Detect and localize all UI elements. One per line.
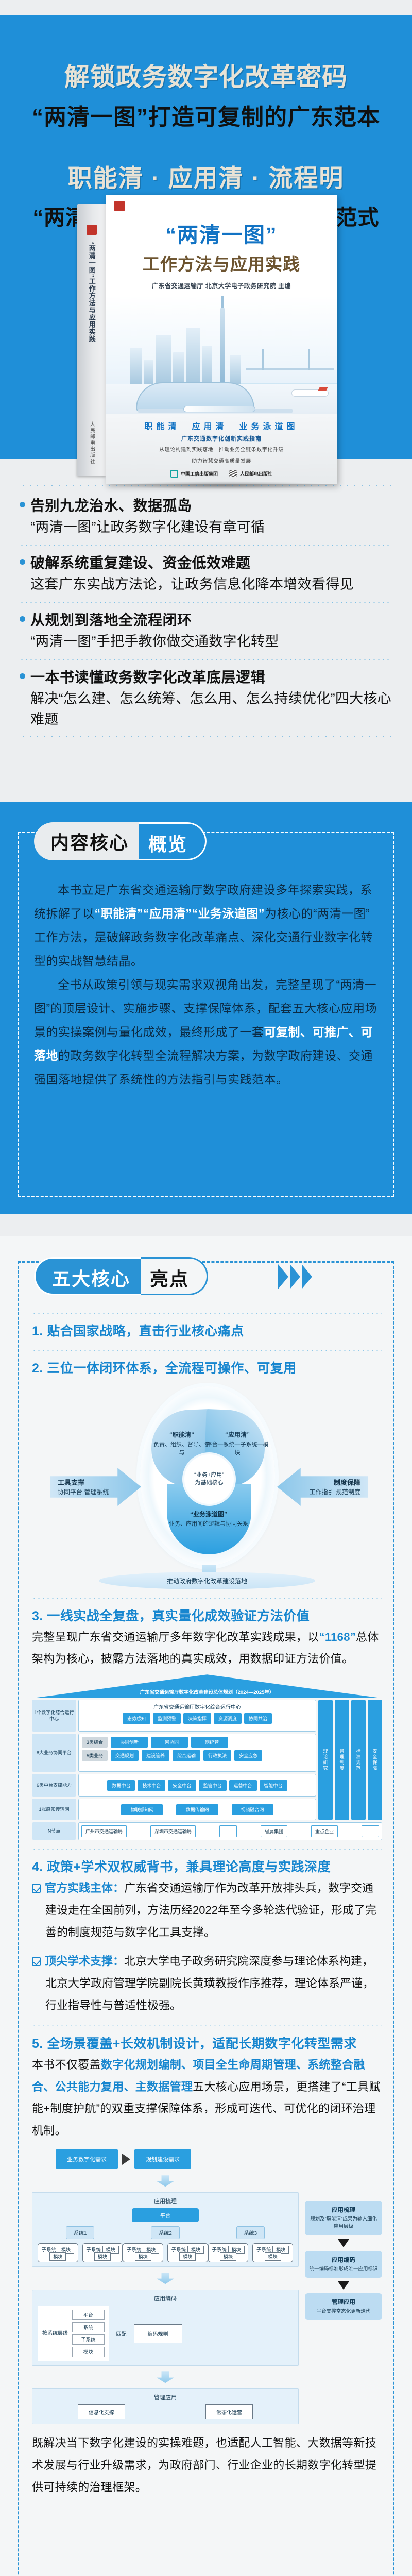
flow-panel-manage-app: 管理应用 信息化支撑 常态化运营 (32, 2388, 299, 2424)
publisher-group-name: 中国工信出版集团 (181, 470, 218, 477)
highlights-body: 1. 贴合国家战略，直击行业核心痛点 2. 三位一体闭环体系，全流程可操作、可复… (32, 1304, 382, 2499)
diagram-arrow-institution: 制度保障 工作指引 规范制度 (277, 1468, 368, 1506)
closing-paragraph: 既解决当下数字化建设的实操难题，也适配人工智能、大数据等新技术发展与行业升级需求… (32, 2432, 382, 2499)
divider-dots-bottom (20, 736, 392, 737)
list-item: 告别九龙治水、数据孤岛 “两清一图”让政务数字化建设有章可循 (20, 496, 392, 537)
bullet-heading: 从规划到落地全流程闭环 (30, 610, 192, 631)
checkbox-icon (32, 1884, 41, 1893)
list-item: 一本书读懂政务数字化改革底层逻辑 解决“怎么建、怎么统筹、怎么用、怎么持续优化”… (20, 667, 392, 730)
highlight-1-title: 1. 贴合国家战略，直击行业核心痛点 (32, 1322, 382, 1342)
core-body-text: 本书立足广东省交通运输厅数字政府建设多年探索实践，系统拆解了以“职能清”“应用清… (34, 878, 380, 1091)
bridge-icon (246, 347, 334, 370)
arch-roof: 广东省交通运输厅数字化改革建设总体规划（2024—2025年） (32, 1674, 382, 1698)
highlight-5-body: 本书不仅覆盖数字化规划编制、项目全生命周期管理、系统整合融合、公共能力复用、主数… (32, 2054, 382, 2143)
cover-authors: 广东省交通运输厅 北京大学电子政务研究院 主编 (106, 281, 337, 290)
cover-subtitle: 广东交通数字化创新实践指南 (106, 434, 337, 443)
arch-col-security: 安全保障 (368, 1700, 382, 1820)
divider-dots (20, 545, 392, 546)
selling-points-list: 告别九龙治水、数据孤岛 “两清一图”让政务数字化建设有章可循 破解系统重复建设、… (0, 479, 412, 747)
flow-tree-systems: 系统1 系统2 系统3 (38, 2226, 293, 2239)
arch-row-platforms: 3类综合 协同创新 一网协同 一网统管 5类业务 交通规划 建设管养 综合运输 … (78, 1734, 316, 1772)
arch-row-midplatform: 数据中台 技术中台 安全中台 监管中台 运营中台 智能中台 (78, 1774, 316, 1797)
arrow-down-icon (338, 2239, 349, 2247)
publisher-ptpress: 人民邮电出版社 (229, 470, 272, 477)
highlight-2-title: 2. 三位一体闭环体系，全流程可操作、可复用 (32, 1359, 382, 1379)
top-spacer (0, 0, 412, 15)
cover-title-sub: 工作方法与应用实践 (106, 250, 337, 275)
arch-node-list: 广州市交通运输局 深圳市交通运输局 …… 省属集团 重点企业 …… (78, 1822, 382, 1840)
divider-dots (20, 602, 392, 603)
arch-col-management: 管理制度 (335, 1700, 349, 1820)
arrow-down-icon (157, 2273, 174, 2284)
flow-side-notes: 应用梳理 规划及“职能清”成果为输入细化应用层级 应用编码 统一编码标准形成唯一… (305, 2174, 382, 2424)
list-item: 从规划到落地全流程闭环 “两清一图”手把手教你做交通数字化转型 (20, 610, 392, 652)
bullet-heading: 破解系统重复建设、资金低效难题 (30, 553, 251, 574)
bullet-dot-icon (20, 559, 25, 565)
section-five-highlights: 五大核心 亮点 1. 贴合国家战略，直击行业核心痛点 2. 三位一体闭环体系，全… (0, 1236, 412, 2576)
cover-title-main: “两清一图” (106, 217, 337, 248)
book-spine-publisher: 人民邮电出版社 (88, 421, 96, 465)
flow-match-label: 匹配 (116, 2330, 127, 2337)
divider-dots (32, 2025, 382, 2026)
ptpress-logo-icon (229, 470, 237, 477)
trinity-closed-loop-diagram: “业务+应用” 为基础核心 “职能清” 负责、组织、督导、参与 “应用清” 平台… (32, 1383, 382, 1569)
architecture-1168-diagram: 广东省交通运输厅数字化改革建设总体规划（2024—2025年） 1个数字化综合运… (32, 1674, 382, 1840)
pill-label-secondary: 概览 (139, 822, 207, 860)
section-title-pill-highlights: 五大核心 亮点 (34, 1257, 208, 1295)
hero-title-line3: 职能清 · 应用清 · 流程明 (0, 158, 412, 194)
bullet-subtext: “两清一图”手把手教你做交通数字化转型 (30, 631, 392, 652)
flow-input-business: 业务数字化需求 (56, 2149, 118, 2169)
flow-input-planning: 规划建设需求 (134, 2149, 191, 2169)
flow-note-inventory: 应用梳理 规划及“职能清”成果为输入细化应用层级 (305, 2201, 382, 2235)
cit-press-logo-icon (170, 470, 178, 478)
highlight-3-body: 完整呈现广东省交通运输厅多年数字化改革实践成果，以“1168”总体架构为核心，披… (32, 1626, 382, 1671)
list-item: 破解系统重复建设、资金低效难题 这套广东实战方法论，让政务信息化降本增效看得见 (20, 553, 392, 595)
arch-label-2: 6类中台支撑能力 (32, 1774, 76, 1797)
highlight-4-title: 4. 政策+学术双权威背书，兼具理论高度与实践深度 (32, 1858, 382, 1877)
arrow-down-icon (157, 2371, 174, 2383)
core-paragraph-2: 全书从政策引领与现实需求双视角出发，完整呈现了“两清一图”的顶层设计、实施步骤、… (34, 973, 380, 1091)
pill-label-primary: 五大核心 (34, 1257, 141, 1295)
pill-label-primary: 内容核心 (34, 822, 139, 860)
flow-note-manage: 管理应用 平台支撑常态化更新迭代 (305, 2293, 382, 2320)
arch-label-3: 1张感知传输网 (32, 1799, 76, 1820)
book-spine: “两清一图”工作方法与应用实践 人民邮电出版社 (77, 204, 106, 476)
highlight-3-title: 3. 一线实战全复盘，真实量化成效验证方法价值 (32, 1607, 382, 1626)
flow-coding-rule: 编码规则 (134, 2324, 182, 2343)
cover-tagline-1: 从理论构建到实践落地 推动业务全链条数字化升级 (106, 446, 337, 454)
cover-cityscape-illustration (106, 296, 337, 414)
hero-title-line2: “两清一图”打造可复制的广东范本 (0, 98, 412, 131)
section-content-core: 内容核心 概览 本书立足广东省交通运输厅数字政府建设多年探索实践，系统拆解了以“… (0, 802, 412, 1214)
arch-col-theory: 理论研究 (318, 1700, 333, 1820)
infographic-page: 解锁政务数字化改革密码 “两清一图”打造可复制的广东范本 职能清 · 应用清 ·… (0, 0, 412, 2576)
arch-label-1: 8大业务协同平台 (32, 1734, 76, 1772)
arch-row-labels: 1个数字化综合运行中心 8大业务协同平台 6类中台支撑能力 1张感知传输网 (32, 1700, 76, 1820)
core-paragraph-1: 本书立足广东省交通运输厅数字政府建设多年探索实践，系统拆解了以“职能清”“应用清… (34, 878, 380, 973)
pill-label-secondary: 亮点 (141, 1257, 208, 1295)
diagram-footer-label: 推动政府数字化改革建设落地 (99, 1572, 315, 1589)
flow-note-coding: 应用编码 统一编码标准形成唯一应用标识 (305, 2251, 382, 2278)
diagram-label-swimlane: “业务泳道图” 业务、应用间的逻辑与协同关系 (165, 1510, 252, 1529)
flow-panel-app-inventory: 应用梳理 平台 系统1 系统2 系统3 子系统 模块模块 (32, 2192, 299, 2267)
bullet-dot-icon (20, 616, 25, 622)
arrow-down-icon (157, 2175, 174, 2187)
highlight-5-title: 5. 全场景覆盖+长效机制设计，适配长期数字化转型需求 (32, 2035, 382, 2054)
divider-dots (32, 1598, 382, 1599)
section-title-pill-core: 内容核心 概览 (34, 822, 207, 860)
flow-inputs-row: 业务数字化需求 规划建设需求 (56, 2149, 382, 2169)
diagram-core-line1: “业务+应用” (194, 1471, 224, 1479)
divider-dots (32, 1849, 382, 1850)
divider-dots (20, 659, 392, 660)
highlight-4-item-2: 顶尖学术支撑：北京大学电子政务研究院深度参与理论体系构建，北京大学政府管理学院副… (32, 1951, 382, 2017)
arch-row-operation-center: 广东省交通运输厅数字化综合运行中心 态势感知 监测预警 决策指挥 资源调度 协同… (78, 1700, 316, 1732)
publisher-logo-icon (87, 225, 97, 235)
arrow-down-icon (338, 2281, 349, 2290)
cover-lower-panel: 职能清 应用清 业务泳道图 广东交通数字化创新实践指南 从理论构建到实践落地 推… (106, 414, 337, 484)
bullet-dot-icon (20, 673, 25, 679)
hero-title-line1: 解锁政务数字化改革密码 (0, 57, 412, 93)
bullet-subtext: 解决“怎么建、怎么统筹、怎么用、怎么持续优化”四大核心难题 (30, 688, 392, 730)
publisher-ptpress-name: 人民邮电出版社 (240, 470, 272, 477)
checkbox-icon (32, 1957, 41, 1966)
flow-tree-root: 平台 (132, 2208, 199, 2222)
book-spine-title: “两清一图”工作方法与应用实践 (87, 241, 96, 343)
arch-support-columns: 理论研究 管理制度 标准规范 安全保障 (318, 1700, 382, 1820)
flow-panel-app-coding: 应用编码 按系统层级 平台 系统 子系统 模块 (32, 2290, 299, 2366)
airplane-icon (291, 389, 329, 397)
cover-logo-icon (114, 201, 125, 211)
arrow-right-icon (122, 2154, 130, 2165)
application-governance-flow-diagram: 业务数字化需求 规划建设需求 应用梳理 平台 系统1 系统2 (32, 2149, 382, 2424)
bullet-subtext: “两清一图”让政务数字化建设有章可循 (30, 517, 392, 538)
bullet-subtext: 这套广东实战方法论，让政务信息化降本增效看得见 (30, 574, 392, 595)
arch-row-network: 物联感知网 数据传输网 视频融合网 (78, 1799, 316, 1820)
bullet-heading: 一本书读懂政务数字化改革底层逻辑 (30, 667, 265, 688)
divider-dots (32, 1350, 382, 1351)
arch-col-standards: 标准规范 (351, 1700, 366, 1820)
flow-code-levels: 按系统层级 平台 系统 子系统 模块 (38, 2306, 109, 2361)
arch-label-nodes: N节点 (32, 1822, 76, 1840)
publisher-group: 中国工信出版集团 (170, 470, 218, 478)
cover-tagline-2: 助力智慧交通高质量发展 (106, 457, 337, 465)
diagram-core-circle: “业务+应用” 为基础核心 (184, 1454, 234, 1504)
diagram-core-line2: 为基础核心 (195, 1479, 224, 1487)
train-icon (183, 406, 255, 412)
divider-dots-top (20, 485, 392, 486)
cover-keywords: 职能清 应用清 业务泳道图 (106, 419, 337, 432)
divider-dots (32, 1313, 382, 1314)
chevron-right-icon (278, 1264, 312, 1289)
book-front-cover: “两清一图” 工作方法与应用实践 广东省交通运输厅 北京大学电子政务研究院 主编 (106, 195, 337, 484)
flow-tree-subsystems: 子系统 模块模块 子系统 模块模块 子系统 模块模块 子系统 模 (38, 2243, 293, 2262)
bullet-dot-icon (20, 502, 25, 507)
highlight-4-item-1: 官方实践主体：广东省交通运输厅作为改革开放排头兵，数字交通建设走在全国前列，方法… (32, 1877, 382, 1944)
canton-tower-icon (220, 307, 225, 384)
diagram-arrow-tools: 工具支撑 协同平台 管理系统 (50, 1468, 141, 1506)
diagram-label-functions: “职能清” 负责、组织、督导、参与 (153, 1431, 210, 1458)
book-cover-3d: “两清一图”工作方法与应用实践 人民邮电出版社 “两清一图” 工作方法与应用实践… (77, 195, 340, 483)
diagram-label-applications: “应用清” 平台—系统—子系统—模块 (206, 1431, 269, 1458)
arch-label-0: 1个数字化综合运行中心 (32, 1700, 76, 1732)
bullet-heading: 告别九龙治水、数据孤岛 (30, 496, 192, 517)
